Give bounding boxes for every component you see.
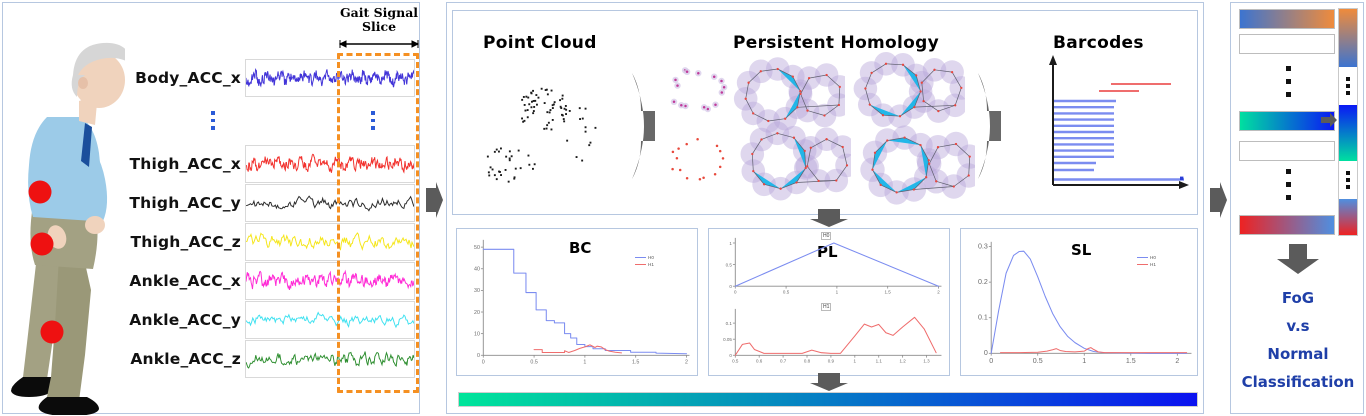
output-label-line-0: FoG (1231, 289, 1365, 307)
svg-text:0.5: 0.5 (783, 289, 790, 294)
svg-text:1.5: 1.5 (885, 289, 892, 294)
arrow-tda-to-featureplots (808, 208, 850, 228)
svg-text:2: 2 (685, 360, 688, 366)
feature-vector-row-1 (1239, 34, 1335, 54)
arrow-vector-to-strip (1320, 112, 1338, 128)
svg-text:20: 20 (474, 310, 480, 316)
rips-complex-3 (731, 119, 851, 203)
svg-text:0.5: 0.5 (530, 360, 537, 366)
svg-text:0.5: 0.5 (726, 262, 733, 267)
patient-illustration (7, 25, 125, 415)
svg-text:2: 2 (937, 289, 940, 294)
arrow-featureplots-to-vector (808, 372, 850, 392)
stacked-feature-strip (1338, 8, 1358, 236)
sensor-marker-ankle (41, 321, 64, 344)
svg-text:0: 0 (734, 289, 737, 294)
gait-slice-selection-box[interactable] (337, 53, 419, 393)
figure-root: Body_ACC_x Thigh_ACC_x Thigh_ACC_y Thigh… (0, 0, 1366, 416)
barcodes-title: Barcodes (1053, 33, 1144, 53)
strip-ellipsis-top (1339, 67, 1357, 105)
arrow-sensors-to-tda (424, 178, 444, 222)
signal-label-5: Ankle_ACC_y (121, 311, 241, 329)
barcode-diagram (1039, 53, 1191, 205)
svg-text:0.8: 0.8 (804, 358, 811, 363)
feature-vector-row-3 (1239, 141, 1335, 161)
svg-text:1: 1 (1082, 357, 1086, 365)
feature-vector-gradient-bar (458, 392, 1198, 407)
svg-text:2: 2 (1175, 357, 1179, 365)
svg-text:0: 0 (729, 284, 732, 289)
strip-segment-2 (1339, 199, 1357, 235)
svg-text:1.5: 1.5 (632, 360, 639, 366)
feature-vector-ellipsis-bottom (1286, 169, 1291, 200)
bc-plot-axes: 00.511.5201020304050 (457, 229, 697, 375)
rips-complex-2 (845, 49, 965, 131)
svg-text:0: 0 (729, 353, 732, 358)
sparse-points-bottom (658, 129, 738, 191)
svg-text:0.1: 0.1 (726, 321, 733, 326)
svg-text:10: 10 (474, 332, 480, 338)
svg-text:0.5: 0.5 (732, 358, 739, 363)
signal-label-4: Ankle_ACC_x (121, 272, 241, 290)
svg-text:1: 1 (583, 360, 586, 366)
tda-stages-panel: Point Cloud Persistent Homology Barcodes (452, 10, 1198, 215)
gait-slice-label-line1: Gait Signal (340, 5, 418, 20)
svg-text:0.1: 0.1 (978, 314, 988, 322)
arrow-complex-to-barcodes (977, 71, 1003, 181)
output-label-line-1: v.s (1231, 317, 1365, 335)
sensor-signals-panel: Body_ACC_x Thigh_ACC_x Thigh_ACC_y Thigh… (2, 2, 420, 414)
output-label-line-3: Classification (1231, 373, 1365, 391)
svg-text:0: 0 (984, 349, 988, 357)
signal-ellipsis-left (211, 111, 215, 130)
pl-plot-panel: PL H0 H1 00.511.5200.510.50.60.70.80.911… (708, 228, 950, 376)
signal-label-2: Thigh_ACC_y (121, 194, 241, 212)
svg-text:1.1: 1.1 (876, 358, 883, 363)
svg-text:0: 0 (482, 360, 485, 366)
svg-text:0: 0 (477, 353, 480, 359)
gait-slice-span-arrow (335, 39, 423, 49)
svg-text:0.6: 0.6 (756, 358, 763, 363)
svg-text:0.05: 0.05 (723, 337, 732, 342)
signal-label-0: Body_ACC_x (121, 69, 241, 87)
sl-plot-axes: 00.511.5200.10.20.3 (961, 229, 1197, 375)
strip-ellipsis-bottom (1339, 161, 1357, 199)
svg-text:0.7: 0.7 (780, 358, 787, 363)
gait-slice-label-line2: Slice (362, 19, 396, 34)
arrow-pointcloud-to-complex (631, 71, 657, 181)
svg-text:1: 1 (729, 241, 732, 246)
strip-segment-0 (1339, 9, 1357, 67)
svg-text:40: 40 (474, 267, 480, 273)
output-label-line-2: Normal (1231, 345, 1365, 363)
svg-text:0.9: 0.9 (828, 358, 835, 363)
svg-text:1: 1 (836, 289, 839, 294)
arrow-midpanel-to-output (1208, 178, 1228, 222)
strip-segment-1 (1339, 105, 1357, 161)
signal-label-6: Ankle_ACC_z (121, 350, 241, 368)
svg-text:1.2: 1.2 (899, 358, 906, 363)
feature-vector-row-0 (1239, 9, 1335, 29)
svg-text:1.3: 1.3 (923, 358, 930, 363)
point-cloud-scatter (471, 56, 631, 206)
point-cloud-title: Point Cloud (483, 33, 597, 53)
feature-vector-ellipsis-top (1286, 66, 1291, 97)
sensor-marker-body (29, 181, 52, 204)
pl-plot-axes: 00.511.5200.510.50.60.70.80.911.11.21.30… (709, 229, 949, 375)
svg-text:30: 30 (474, 288, 480, 294)
bc-plot-panel: BC H0 H1 00.511.5201020304050 (456, 228, 698, 376)
svg-text:1: 1 (854, 358, 857, 363)
feature-vector-row-4 (1239, 215, 1335, 235)
svg-text:0.2: 0.2 (978, 278, 988, 286)
gait-slice-label: Gait Signal Slice (329, 6, 429, 34)
signal-label-3: Thigh_ACC_z (121, 233, 241, 251)
svg-text:0: 0 (989, 357, 993, 365)
svg-text:0.5: 0.5 (1033, 357, 1043, 365)
arrow-vector-to-classifier (1275, 243, 1321, 275)
svg-text:50: 50 (474, 245, 480, 251)
svg-text:0.3: 0.3 (978, 242, 988, 250)
sl-plot-panel: SL H0 H1 00.511.5200.10.20.3 (960, 228, 1198, 376)
signal-label-1: Thigh_ACC_x (121, 155, 241, 173)
svg-text:1.5: 1.5 (1126, 357, 1136, 365)
rips-complex-4 (851, 123, 975, 207)
sensor-marker-thigh (31, 233, 54, 256)
